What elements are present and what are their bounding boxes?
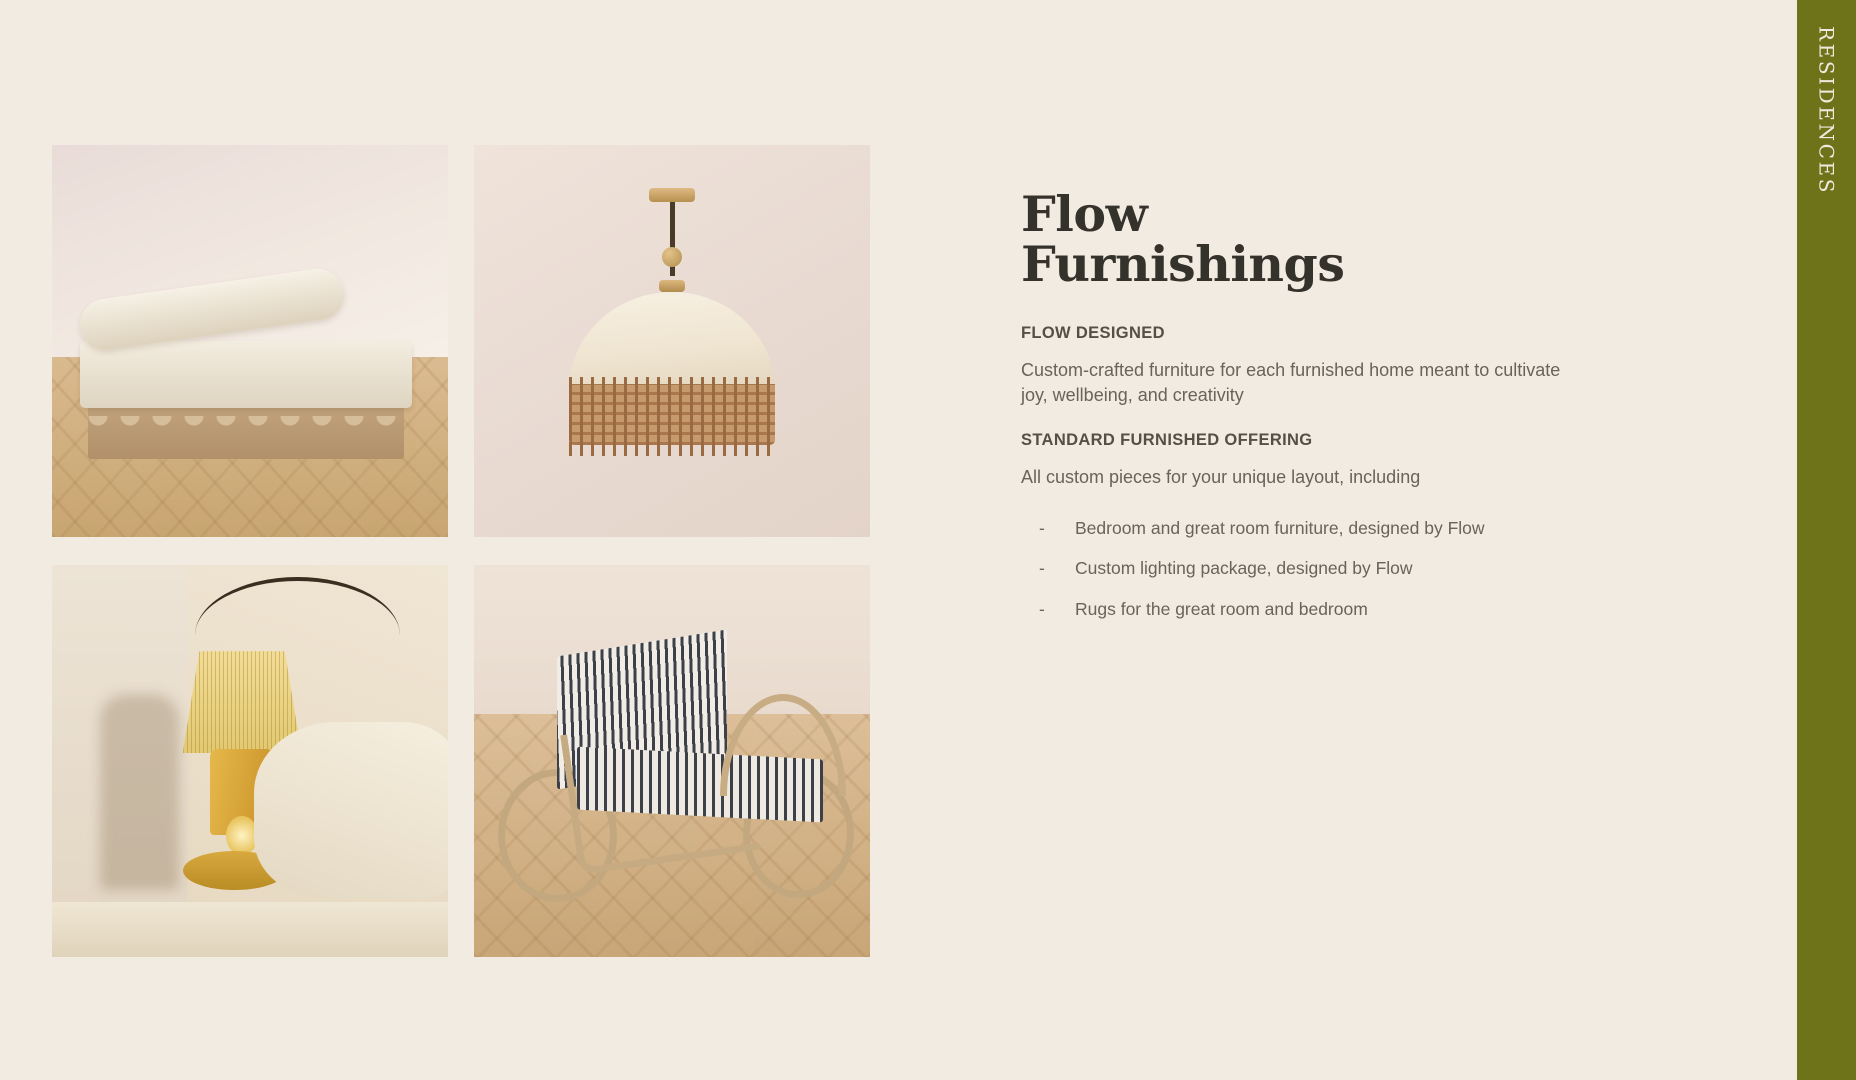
scallop-detail (88, 416, 405, 459)
section-heading-standard-offering: STANDARD FURNISHED OFFERING (1021, 431, 1581, 450)
pendant-lamp-photo (474, 145, 870, 537)
list-item-label: Rugs for the great room and bedroom (1075, 598, 1368, 622)
rattan-chair-photo (474, 565, 870, 957)
page-title: Flow Furnishings (1021, 190, 1581, 290)
title-line-2: Furnishings (1021, 240, 1581, 290)
list-item: - Custom lighting package, designed by F… (1039, 557, 1581, 581)
bullet-dash-icon: - (1039, 557, 1075, 581)
bullet-dash-icon: - (1039, 598, 1075, 622)
ceiling-canopy (649, 188, 695, 202)
list-item: - Bedroom and great room furniture, desi… (1039, 517, 1581, 541)
table-lamp-photo (52, 565, 448, 957)
bed-surface (52, 902, 448, 957)
sidebar-label: RESIDENCES (1815, 26, 1839, 195)
brass-collar (659, 280, 685, 292)
slide-root: Flow Furnishings FLOW DESIGNED Custom-cr… (0, 0, 1856, 1080)
section-tab-residences: RESIDENCES (1797, 0, 1856, 1080)
daybed-cushion (80, 341, 413, 408)
bullet-dash-icon: - (1039, 517, 1075, 541)
offering-bullet-list: - Bedroom and great room furniture, desi… (1021, 517, 1581, 622)
rattan-fringe-bottom (569, 442, 775, 456)
section-body-standard-offering: All custom pieces for your unique layout… (1021, 465, 1581, 491)
list-item: - Rugs for the great room and bedroom (1039, 598, 1581, 622)
brass-knob (662, 247, 682, 267)
image-gallery-grid (52, 145, 870, 960)
rattan-fringe-top (569, 377, 775, 391)
daybed-bench-photo (52, 145, 448, 537)
rattan-weave-band (569, 384, 775, 445)
bed-pillow (254, 722, 448, 898)
section-heading-flow-designed: FLOW DESIGNED (1021, 324, 1581, 343)
list-item-label: Custom lighting package, designed by Flo… (1075, 557, 1413, 581)
list-item-label: Bedroom and great room furniture, design… (1075, 517, 1485, 541)
section-body-flow-designed: Custom-crafted furniture for each furnis… (1021, 358, 1581, 409)
lamp-cast-shadow (100, 694, 179, 890)
content-column: Flow Furnishings FLOW DESIGNED Custom-cr… (1021, 190, 1581, 638)
